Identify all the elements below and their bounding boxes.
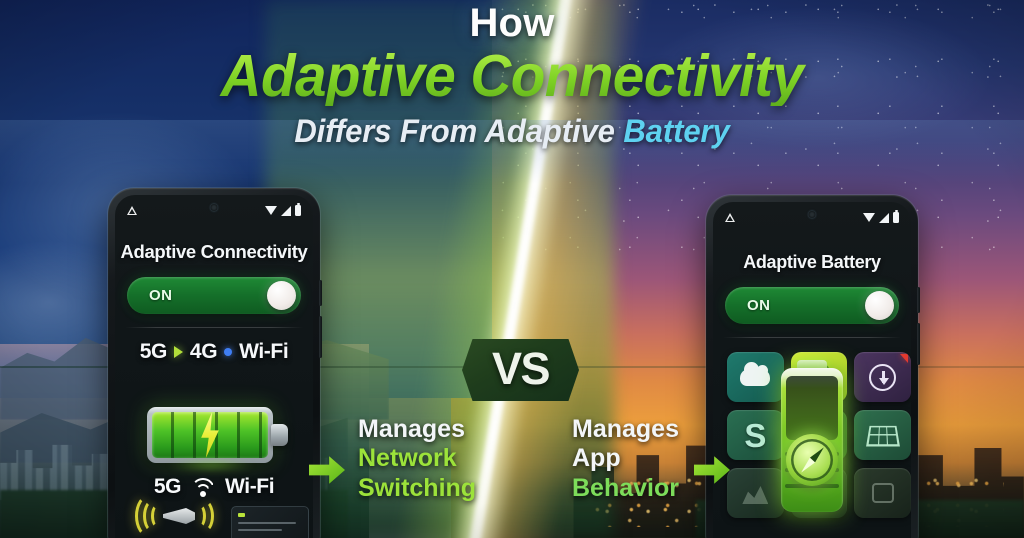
wifi-triangle-icon — [863, 213, 875, 222]
toggle-knob-left[interactable] — [267, 281, 296, 310]
right-col-line-1: Manages — [572, 415, 679, 444]
network-to-label: 4G — [190, 340, 217, 364]
wifi-row-right-label: Wi-Fi — [225, 475, 274, 499]
broadcast-wave-mid-right — [193, 499, 214, 533]
square-app-icon[interactable] — [854, 468, 911, 518]
status-bar-right-right-group — [863, 212, 899, 223]
card-line-1 — [238, 522, 296, 524]
network-from-label: 5G — [140, 340, 167, 364]
broadcast-cone — [163, 508, 195, 524]
network-wifi-label: Wi-Fi — [239, 340, 288, 364]
battery-icon — [295, 205, 301, 216]
phone-mockup-adaptive-connectivity[interactable]: Adaptive Connectivity ON 5G 4G Wi-Fi — [108, 188, 320, 538]
cloud-glyph — [740, 369, 770, 386]
front-camera-dot-right — [809, 211, 816, 218]
battery-icon — [893, 212, 899, 223]
battery-terminal — [271, 424, 288, 446]
notification-badge — [900, 354, 908, 363]
charging-battery-icon — [147, 407, 289, 463]
vs-badge: VS — [462, 339, 579, 401]
network-switch-row: 5G 4G Wi-Fi — [115, 340, 313, 364]
divider-right-1 — [723, 337, 901, 338]
phone-heading-left: Adaptive Connectivity — [115, 241, 313, 263]
triangle-outline-icon — [127, 206, 137, 215]
phone-heading-right: Adaptive Battery — [713, 252, 911, 273]
right-col-line-2: App — [572, 444, 679, 473]
left-col-line-2: Network — [358, 444, 476, 473]
adaptive-connectivity-toggle[interactable]: ON — [127, 277, 301, 314]
toggle-knob-right[interactable] — [865, 291, 894, 320]
wifi-triangle-icon — [265, 206, 277, 215]
settings-card-fragment — [231, 506, 309, 538]
broadcast-antenna-icon — [131, 496, 223, 538]
left-col-line-3: Switching — [358, 474, 476, 503]
compass-icon — [786, 434, 838, 486]
cloud-app-icon[interactable] — [727, 352, 784, 402]
infographic-canvas: How Adaptive Connectivity Differs From A… — [0, 0, 1024, 538]
phone-volume-button-left[interactable] — [319, 280, 322, 306]
right-col-line-3: Behavior — [572, 474, 679, 503]
title-line-main: Adaptive Connectivity — [20, 47, 1003, 106]
title-sub-highlight: Battery — [623, 113, 729, 149]
chevron-right-icon — [174, 346, 183, 358]
vs-label: VS — [492, 343, 549, 395]
phone-screen-right[interactable]: Adaptive Battery ON S — [713, 202, 911, 538]
left-description-column: Manages Network Switching — [358, 415, 476, 503]
front-camera-dot-left — [211, 204, 218, 211]
wifi-icon — [191, 478, 215, 497]
battery-empty-portion — [786, 376, 838, 440]
status-dot-icon — [224, 348, 232, 356]
status-bar-right-left-group — [725, 213, 735, 222]
card-line-2 — [238, 529, 282, 531]
phone-power-button-right[interactable] — [917, 323, 920, 365]
adaptive-battery-toggle[interactable]: ON — [725, 287, 899, 324]
status-bar-left-group — [127, 206, 137, 215]
triangle-outline-icon — [725, 213, 735, 222]
divider-left-1 — [125, 327, 303, 328]
clock-timer-app-icon[interactable] — [854, 352, 911, 402]
title-sub-prefix: Differs From Adaptive — [294, 113, 623, 149]
title-line-how: How — [0, 2, 1024, 45]
phone-mockup-adaptive-battery[interactable]: Adaptive Battery ON S — [706, 195, 918, 538]
signal-bars-icon — [879, 213, 889, 223]
left-col-line-1: Manages — [358, 415, 476, 444]
phone-screen-left[interactable]: Adaptive Connectivity ON 5G 4G Wi-Fi — [115, 195, 313, 538]
phone-power-button-left[interactable] — [319, 316, 322, 358]
square-glyph — [872, 483, 894, 503]
image-glyph — [742, 482, 768, 504]
toggle-label-right: ON — [747, 297, 770, 314]
right-description-column: Manages App Behavior — [572, 415, 679, 503]
broadcast-wave-inner-left — [151, 504, 164, 528]
toggle-label-left: ON — [149, 287, 172, 304]
title-block: How Adaptive Connectivity Differs From A… — [0, 2, 1024, 150]
image-app-icon[interactable] — [727, 468, 784, 518]
adaptive-battery-icon — [781, 360, 843, 512]
clock-glyph — [869, 364, 896, 391]
battery-glow — [151, 457, 271, 473]
compass-needle — [798, 445, 826, 475]
phone-volume-button-right[interactable] — [917, 287, 920, 313]
status-bar-right-group — [265, 205, 301, 216]
signal-bars-icon — [281, 206, 291, 216]
title-line-sub: Differs From Adaptive Battery — [15, 114, 1008, 150]
